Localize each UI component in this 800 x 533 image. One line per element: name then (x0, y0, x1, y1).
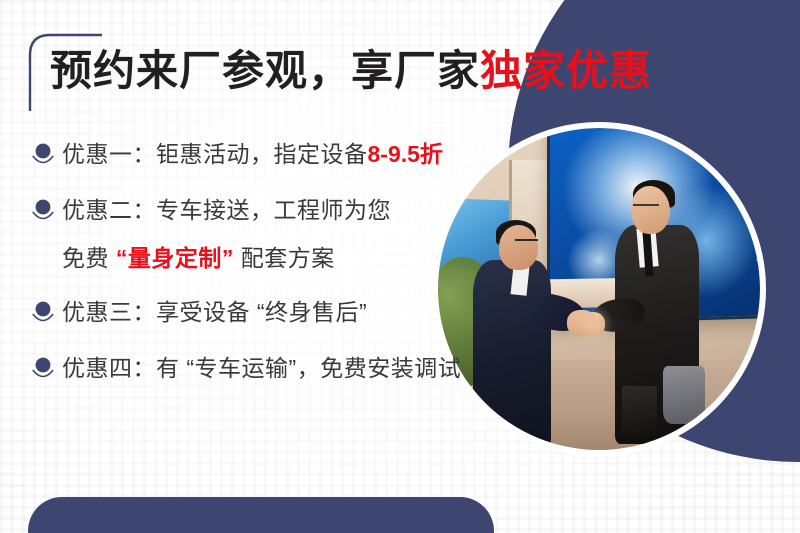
list-item-text: 优惠四：有 “专车运输”，免费安装调试 (62, 352, 500, 385)
circle-arc-bullet-icon (30, 296, 56, 330)
list-item: 优惠四：有 “专车运输”，免费安装调试 (30, 352, 500, 386)
list-item: 优惠三：享受设备 “终身售后” (30, 296, 500, 330)
list-item-line: 优惠一：钜惠活动，指定设备8-9.5折 (62, 139, 500, 171)
list-item-line: 优惠三：享受设备 “终身售后” (62, 297, 500, 329)
list-item-line: 免费 “量身定制” 配套方案 (62, 243, 500, 275)
list-item-line: 优惠四：有 “专车运输”，免费安装调试 (62, 353, 500, 385)
list-item-text: 优惠三：享受设备 “终身售后” (62, 296, 500, 329)
photo-handbag-dark (622, 386, 657, 438)
navy-bottom-bar (28, 497, 494, 533)
photo-person-right-glasses (633, 204, 659, 206)
list-item-line: 优惠二：专车接送，工程师为您 (62, 195, 500, 227)
list-item-segment: 免费 (62, 245, 116, 271)
list-item-text: 优惠二：专车接送，工程师为您 免费 “量身定制” 配套方案 (62, 194, 500, 274)
list-item-segment: 配套方案 (234, 245, 335, 271)
photo-person-right-head (631, 186, 670, 234)
photo-person-left-shirt (511, 266, 530, 296)
photo-handshake-highlight (570, 305, 615, 344)
benefits-list: 优惠一：钜惠活动，指定设备8-9.5折 优惠二：专车接送，工程师为您 免费 “量… (30, 138, 500, 408)
circle-arc-bullet-icon (30, 194, 56, 228)
list-item-text: 优惠一：钜惠活动，指定设备8-9.5折 (62, 138, 500, 171)
title-plain-text: 预约来厂参观，享厂家 (50, 47, 480, 94)
photo-handbag-grey (663, 366, 705, 424)
circle-arc-bullet-icon (30, 138, 56, 172)
list-item-highlight: “量身定制” (116, 245, 234, 271)
list-item: 优惠一：钜惠活动，指定设备8-9.5折 (30, 138, 500, 172)
list-item-segment: 优惠三：享受设备 “终身售后” (62, 299, 367, 325)
photo-person-left-glasses (515, 239, 538, 241)
list-item-highlight: 8-9.5折 (368, 141, 443, 167)
screen-caption-secondary: United (756, 253, 760, 264)
list-item-segment: 优惠四：有 “专车运输”，免费安装调试 (62, 355, 461, 381)
promo-banner: Connecting United United (0, 0, 800, 533)
list-item-segment: 优惠二：专车接送，工程师为您 (62, 197, 391, 223)
title-accent-text: 独家优惠 (480, 47, 652, 94)
photo-person-left-head (499, 225, 538, 270)
circle-arc-bullet-icon (30, 352, 56, 386)
list-item: 优惠二：专车接送，工程师为您 免费 “量身定制” 配套方案 (30, 194, 500, 274)
list-item-segment: 优惠一：钜惠活动，指定设备 (62, 141, 368, 167)
page-title: 预约来厂参观，享厂家独家优惠 (50, 47, 652, 94)
